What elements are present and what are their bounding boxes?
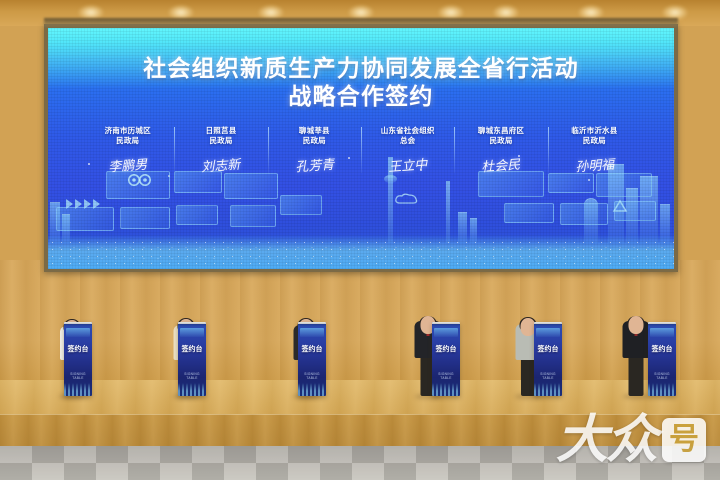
led-screen: 社会组织新质生产力协同发展全省行活动 战略合作签约 济南市历城区 民政局 李鹏男… <box>48 28 674 269</box>
handwritten-signature: 孙明福 <box>550 150 639 178</box>
podium-skyline-graphic <box>298 383 326 396</box>
podium-banner-strip <box>300 328 324 337</box>
org-name-line-2: 民政局 <box>116 136 139 145</box>
organization-name: 日照莒县 民政局 <box>177 126 264 146</box>
podium-skyline-graphic <box>534 383 562 396</box>
signatory-cell-1: 济南市历城区 民政局 李鹏男 <box>81 126 174 175</box>
signing-podium-2: 签约台 SIGNING TABLE <box>178 322 206 396</box>
podium-laptop-screen <box>64 322 92 324</box>
podium-label: 签约台 <box>534 346 562 353</box>
podium-laptop-screen <box>298 322 326 324</box>
podium-sub-label: SIGNING TABLE <box>64 372 92 380</box>
led-screen-frame: 社会组织新质生产力协同发展全省行活动 战略合作签约 济南市历城区 民政局 李鹏男… <box>44 24 678 272</box>
floor-carpet <box>0 446 720 480</box>
stage-front-edge <box>0 414 720 449</box>
podium-laptop-screen <box>178 322 206 324</box>
podium-banner-strip <box>66 328 90 337</box>
organization-name: 临沂市沂水县 民政局 <box>551 126 638 146</box>
podium-skyline-graphic <box>64 383 92 396</box>
podium-skyline-graphic <box>178 383 206 396</box>
podium-label: 签约台 <box>648 346 676 353</box>
screen-title-block: 社会组织新质生产力协同发展全省行活动 战略合作签约 <box>143 54 579 110</box>
signatory-cell-2: 日照莒县 民政局 刘志新 <box>174 126 267 175</box>
org-name-line-1: 聊城莘县 <box>299 126 330 135</box>
organization-name: 聊城莘县 民政局 <box>271 126 358 146</box>
podium-laptop-screen <box>432 322 460 324</box>
screen-title-line-1: 社会组织新质生产力协同发展全省行活动 <box>143 54 579 82</box>
podium-label: 签约台 <box>178 346 206 353</box>
podium-banner-strip <box>180 328 204 337</box>
podium-sub-label: SIGNING TABLE <box>298 372 326 380</box>
organization-name: 聊城东昌府区 民政局 <box>457 126 544 146</box>
handwritten-signature: 刘志新 <box>177 150 266 178</box>
signing-podium-5: 签约台 SIGNING TABLE <box>534 322 562 396</box>
podium-sub-label: SIGNING TABLE <box>534 372 562 380</box>
photo-scene: 社会组织新质生产力协同发展全省行活动 战略合作签约 济南市历城区 民政局 李鹏男… <box>0 0 720 480</box>
podium-label: 签约台 <box>64 346 92 353</box>
org-name-line-2: 民政局 <box>489 136 512 145</box>
podium-label: 签约台 <box>298 346 326 353</box>
org-name-line-1: 山东省社会组织 <box>381 126 435 135</box>
podium-laptop-screen <box>648 322 676 324</box>
org-name-line-2: 总会 <box>400 136 415 145</box>
podium-banner-strip <box>650 328 674 337</box>
org-name-line-1: 聊城东昌府区 <box>478 126 524 135</box>
podium-skyline-graphic <box>648 383 676 396</box>
podium-banner-strip <box>536 328 560 337</box>
podium-skyline-graphic <box>432 383 460 396</box>
handwritten-signature: 王立中 <box>363 150 452 178</box>
podium-label: 签约台 <box>432 346 460 353</box>
signing-podium-4: 签约台 SIGNING TABLE <box>432 322 460 396</box>
signing-podium-1: 签约台 SIGNING TABLE <box>64 322 92 396</box>
signatory-organizations-row: 济南市历城区 民政局 李鹏男 日照莒县 民政局 刘志新 <box>81 126 641 175</box>
org-name-line-1: 日照莒县 <box>206 126 237 135</box>
podium-banner-strip <box>434 328 458 337</box>
podium-sub-label: SIGNING TABLE <box>178 372 206 380</box>
podium-laptop-screen <box>534 322 562 324</box>
signatory-cell-3: 聊城莘县 民政局 孔芳青 <box>268 126 361 175</box>
org-name-line-1: 临沂市沂水县 <box>571 126 617 135</box>
signatory-cell-4: 山东省社会组织 总会 王立中 <box>361 126 454 175</box>
organization-name: 山东省社会组织 总会 <box>364 126 451 146</box>
signing-podium-3: 签约台 SIGNING TABLE <box>298 322 326 396</box>
screen-title-line-2: 战略合作签约 <box>143 82 579 110</box>
org-name-line-2: 民政局 <box>303 136 326 145</box>
org-name-line-2: 民政局 <box>583 136 606 145</box>
signing-podium-6: 签约台 SIGNING TABLE <box>648 322 676 396</box>
handwritten-signature: 李鹏男 <box>83 150 172 178</box>
handwritten-signature: 杜会民 <box>457 150 546 178</box>
podium-sub-label: SIGNING TABLE <box>648 372 676 380</box>
org-name-line-2: 民政局 <box>209 136 232 145</box>
organization-name: 济南市历城区 民政局 <box>84 126 171 146</box>
org-name-line-1: 济南市历城区 <box>105 126 151 135</box>
handwritten-signature: 孔芳青 <box>270 150 359 178</box>
podium-sub-label: SIGNING TABLE <box>432 372 460 380</box>
signatory-cell-6: 临沂市沂水县 民政局 孙明福 <box>548 126 641 175</box>
signatory-cell-5: 聊城东昌府区 民政局 杜会民 <box>454 126 547 175</box>
